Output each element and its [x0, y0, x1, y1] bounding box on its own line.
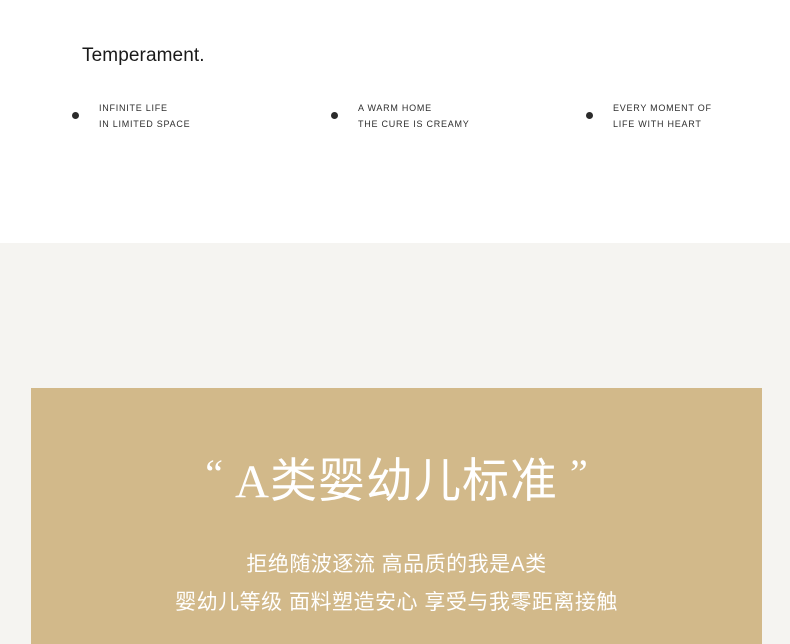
feature-list: INFINITE LIFE IN LIMITED SPACE A WARM HO… — [0, 100, 790, 140]
feature-text-group: A WARM HOME THE CURE IS CREAMY — [358, 100, 470, 132]
feature-item-every-moment: EVERY MOMENT OF LIFE WITH HEART — [586, 100, 712, 132]
bullet-dot-icon — [72, 112, 79, 119]
feature-item-warm-home: A WARM HOME THE CURE IS CREAMY — [331, 100, 470, 132]
feature-line-primary: INFINITE LIFE — [99, 100, 190, 116]
feature-line-primary: EVERY MOMENT OF — [613, 100, 712, 116]
page-title: Temperament. — [82, 44, 205, 68]
promo-heading-text: A类婴幼儿标准 — [235, 456, 558, 508]
feature-text-group: INFINITE LIFE IN LIMITED SPACE — [99, 100, 190, 132]
page-root: Temperament. INFINITE LIFE IN LIMITED SP… — [0, 0, 790, 644]
promo-heading: “A类婴幼儿标准” — [31, 446, 762, 510]
bullet-dot-icon — [331, 112, 338, 119]
feature-line-secondary: LIFE WITH HEART — [613, 116, 712, 132]
bullet-dot-icon — [586, 112, 593, 119]
top-white-section: Temperament. INFINITE LIFE IN LIMITED SP… — [0, 0, 790, 243]
promo-subtitle-line-1: 拒绝随波逐流 高品质的我是A类 — [31, 551, 762, 579]
promo-banner-panel: “A类婴幼儿标准” 拒绝随波逐流 高品质的我是A类 婴幼儿等级 面料塑造安心 享… — [31, 388, 762, 644]
feature-line-secondary: IN LIMITED SPACE — [99, 116, 190, 132]
feature-line-secondary: THE CURE IS CREAMY — [358, 116, 470, 132]
quote-open-icon: “ — [205, 451, 223, 496]
feature-text-group: EVERY MOMENT OF LIFE WITH HEART — [613, 100, 712, 132]
feature-line-primary: A WARM HOME — [358, 100, 470, 116]
promo-subtitle-line-2: 婴幼儿等级 面料塑造安心 享受与我零距离接触 — [31, 589, 762, 617]
feature-item-infinite-life: INFINITE LIFE IN LIMITED SPACE — [72, 100, 190, 132]
quote-close-icon: ” — [570, 451, 588, 496]
